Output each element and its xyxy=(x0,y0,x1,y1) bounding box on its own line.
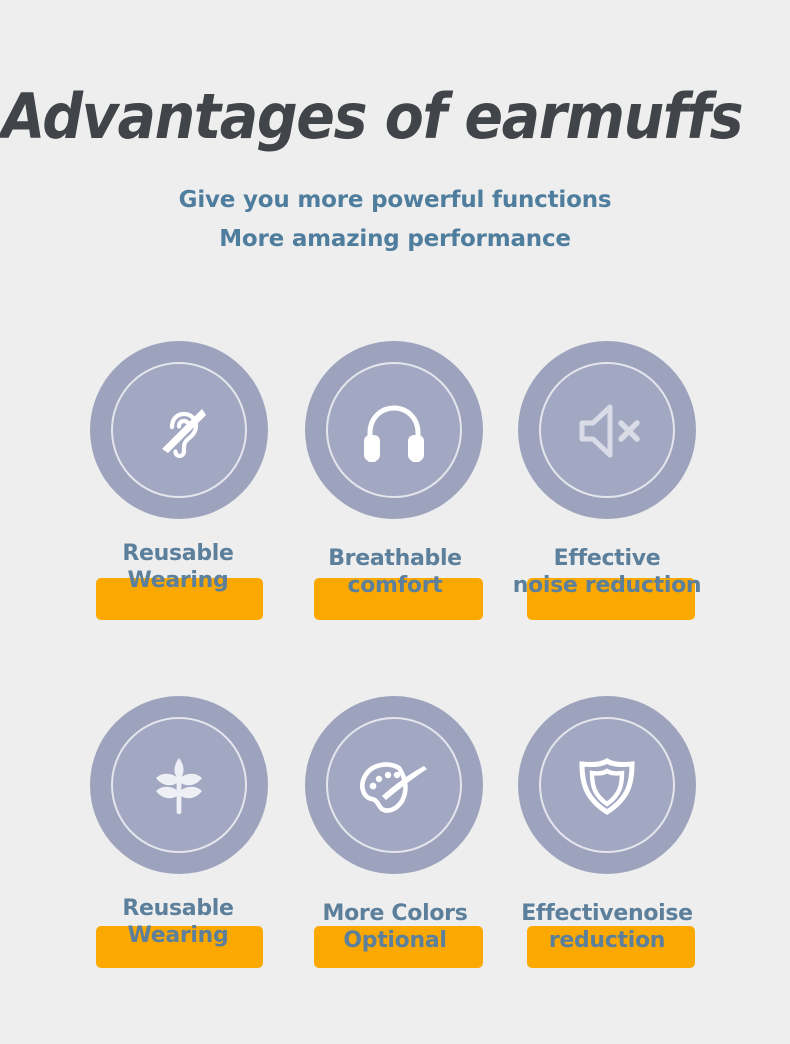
feature-icon-circle-2[interactable] xyxy=(305,341,483,519)
circle-backdrop-2 xyxy=(305,341,483,519)
feature-icon-circle-6[interactable] xyxy=(518,696,696,874)
feature-icon-circle-1[interactable] xyxy=(90,341,268,519)
feature-button-5[interactable] xyxy=(314,926,483,968)
feature-caption-5-line1: More Colors xyxy=(245,900,545,927)
feature-button-6[interactable] xyxy=(527,926,695,968)
feature-grid: Reusable Wearing Bre xyxy=(0,0,790,1044)
circle-backdrop-3 xyxy=(518,341,696,519)
feature-caption-4-line1: Reusable xyxy=(28,895,328,922)
feature-icon-circle-5[interactable] xyxy=(305,696,483,874)
feature-caption-6-line1: Effectivenoise xyxy=(457,900,757,927)
feature-button-3[interactable] xyxy=(527,578,695,620)
circle-backdrop-6 xyxy=(518,696,696,874)
ear-hearing-icon xyxy=(90,341,268,519)
feature-button-1[interactable] xyxy=(96,578,263,620)
feature-button-4[interactable] xyxy=(96,926,263,968)
circle-backdrop-5 xyxy=(305,696,483,874)
paint-palette-icon xyxy=(305,696,483,874)
circle-backdrop-1 xyxy=(90,341,268,519)
feature-caption-3-line1: Effective xyxy=(457,545,757,572)
shield-icon xyxy=(518,696,696,874)
advantages-page: Advantages of earmuffs Give you more pow… xyxy=(0,0,790,1044)
leaf-plant-icon xyxy=(90,696,268,874)
speaker-mute-icon xyxy=(518,341,696,519)
feature-caption-1-line1: Reusable xyxy=(28,540,328,567)
circle-backdrop-4 xyxy=(90,696,268,874)
feature-icon-circle-4[interactable] xyxy=(90,696,268,874)
headphones-icon xyxy=(305,341,483,519)
feature-icon-circle-3[interactable] xyxy=(518,341,696,519)
feature-button-2[interactable] xyxy=(314,578,483,620)
feature-caption-2-line1: Breathable xyxy=(245,545,545,572)
